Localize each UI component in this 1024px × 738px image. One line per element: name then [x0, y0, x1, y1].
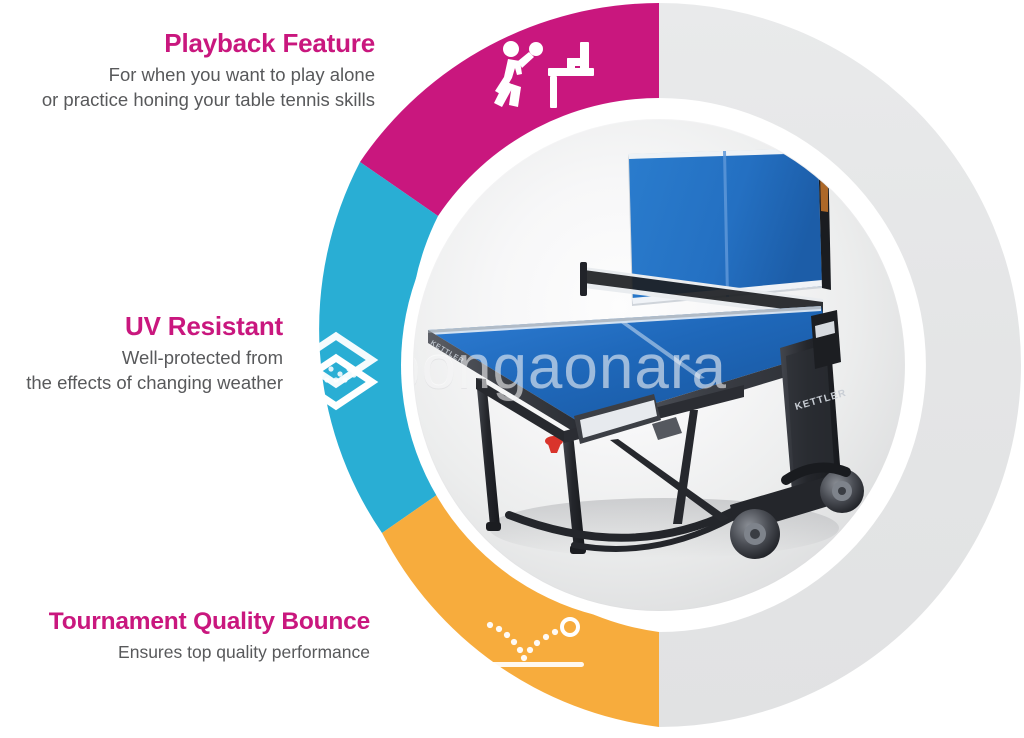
feature-desc-playback-line2: or practice honing your table tennis ski…	[10, 88, 375, 112]
feature-text-bounce: Tournament Quality Bounce Ensures top qu…	[10, 609, 370, 664]
wheel-front	[730, 509, 780, 559]
product-photo: KETTLER KETTLER	[414, 120, 904, 610]
feature-text-uv: UV Resistant Well-protected from the eff…	[0, 313, 283, 395]
feature-desc-bounce-line1: Ensures top quality performance	[10, 641, 370, 664]
feature-desc-playback-line1: For when you want to play alone	[10, 63, 375, 87]
feature-desc-uv-line1: Well-protected from	[0, 346, 283, 370]
feature-title-playback: Playback Feature	[10, 30, 375, 57]
table-tennis-table-illustration: KETTLER KETTLER	[414, 120, 904, 610]
ball-icon	[562, 619, 578, 635]
feature-title-bounce: Tournament Quality Bounce	[10, 609, 370, 635]
feature-title-uv: UV Resistant	[0, 313, 283, 340]
feature-desc-uv-line2: the effects of changing weather	[0, 371, 283, 395]
playback-table-figure-icon	[492, 38, 598, 122]
feature-text-playback: Playback Feature For when you want to pl…	[10, 30, 375, 112]
infographic-root: KETTLER KETTLER	[0, 0, 1024, 738]
uv-layers-icon	[292, 330, 380, 412]
ball-bounce-trajectory-icon	[466, 612, 588, 676]
